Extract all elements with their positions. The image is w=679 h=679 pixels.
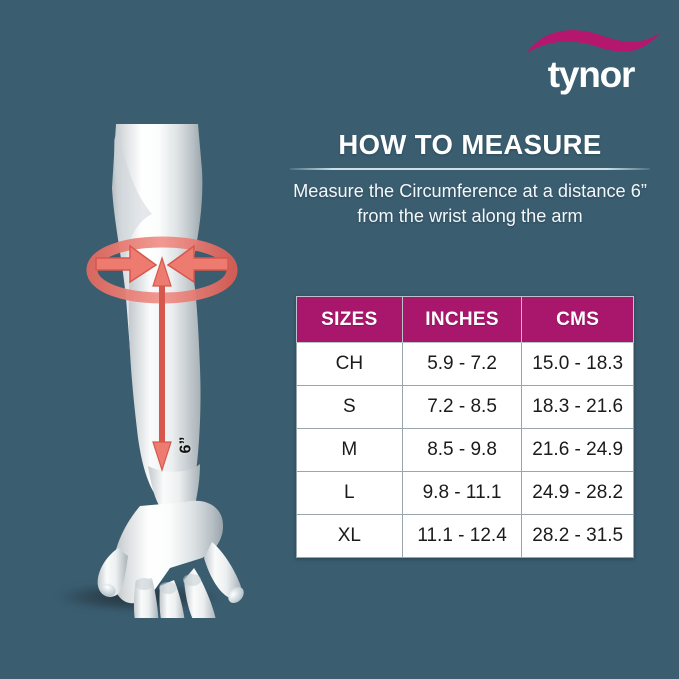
page-title: HOW TO MEASURE xyxy=(279,128,661,162)
cell-inches: 5.9 - 7.2 xyxy=(402,343,522,386)
column-header-inches: INCHES xyxy=(402,297,522,343)
cell-cms: 24.9 - 28.2 xyxy=(522,472,634,515)
column-header-sizes: SIZES xyxy=(297,297,403,343)
cell-size: CH xyxy=(297,343,403,386)
cell-inches: 8.5 - 9.8 xyxy=(402,429,522,472)
table-row: CH 5.9 - 7.2 15.0 - 18.3 xyxy=(297,343,634,386)
page-subtitle: Measure the Circumference at a distance … xyxy=(279,179,661,229)
cell-cms: 21.6 - 24.9 xyxy=(522,429,634,472)
cell-cms: 15.0 - 18.3 xyxy=(522,343,634,386)
column-header-cms: CMS xyxy=(522,297,634,343)
tynor-logo: tynor xyxy=(516,22,666,100)
forearm-mannequin-icon xyxy=(52,118,268,618)
size-chart-table: SIZES INCHES CMS CH 5.9 - 7.2 15.0 - 18.… xyxy=(296,296,634,558)
table-header-row: SIZES INCHES CMS xyxy=(297,297,634,343)
cell-size: S xyxy=(297,386,403,429)
cell-inches: 7.2 - 8.5 xyxy=(402,386,522,429)
cell-inches: 11.1 - 12.4 xyxy=(402,515,522,558)
size-chart-canvas: tynor HOW TO MEASURE Measure the Circumf… xyxy=(0,0,679,679)
table-row: XL 11.1 - 12.4 28.2 - 31.5 xyxy=(297,515,634,558)
cell-size: M xyxy=(297,429,403,472)
table-row: M 8.5 - 9.8 21.6 - 24.9 xyxy=(297,429,634,472)
forearm-illustration: 6” xyxy=(52,118,268,618)
logo-wordmark: tynor xyxy=(516,52,666,98)
cell-inches: 9.8 - 11.1 xyxy=(402,472,522,515)
cell-cms: 18.3 - 21.6 xyxy=(522,386,634,429)
cell-cms: 28.2 - 31.5 xyxy=(522,515,634,558)
table-row: S 7.2 - 8.5 18.3 - 21.6 xyxy=(297,386,634,429)
title-divider xyxy=(290,168,650,170)
cell-size: L xyxy=(297,472,403,515)
table-row: L 9.8 - 11.1 24.9 - 28.2 xyxy=(297,472,634,515)
cell-size: XL xyxy=(297,515,403,558)
distance-label: 6” xyxy=(177,437,195,454)
heading-block: HOW TO MEASURE Measure the Circumference… xyxy=(279,128,661,229)
